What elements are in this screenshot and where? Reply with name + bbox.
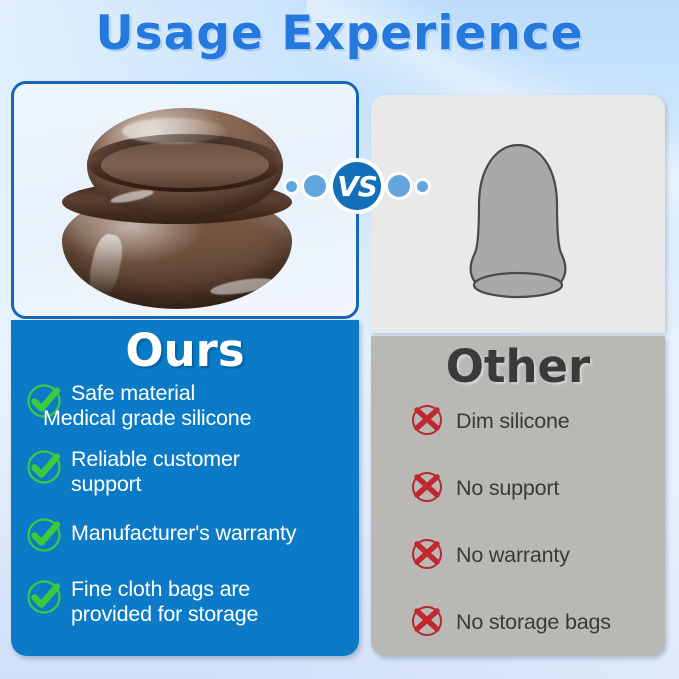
list-item-label: Dim silicone bbox=[456, 409, 570, 434]
cross-circle-icon bbox=[409, 602, 445, 643]
cross-circle-icon bbox=[409, 401, 445, 442]
list-item-line2: Medical grade silicone bbox=[43, 406, 251, 431]
list-item: Manufacturer's warranty bbox=[25, 515, 347, 559]
list-item: No support bbox=[409, 468, 655, 509]
list-item-label: No warranty bbox=[456, 543, 570, 568]
list-item-text: Fine cloth bags are provided for storage bbox=[71, 577, 258, 627]
ours-heading: Ours bbox=[11, 320, 359, 377]
cup-highlight-top bbox=[122, 118, 226, 144]
list-item: No warranty bbox=[409, 535, 655, 576]
other-heading: Other bbox=[371, 336, 665, 393]
list-item-label: No support bbox=[456, 476, 559, 501]
list-item-line2: support bbox=[71, 472, 240, 497]
vs-badge-group: VS bbox=[286, 160, 446, 212]
cross-circle-icon bbox=[409, 468, 445, 509]
vs-dot-small-right bbox=[417, 181, 428, 192]
cup-inner-bowl bbox=[101, 142, 269, 188]
other-cup-silhouette bbox=[453, 133, 583, 313]
list-item-line1: Reliable customer bbox=[71, 447, 240, 471]
vs-dot-medium-left bbox=[304, 175, 326, 197]
list-item-text: Safe material Medical grade silicone bbox=[71, 381, 251, 431]
cross-circle-icon bbox=[409, 535, 445, 576]
list-item-line1: Fine cloth bags are bbox=[71, 577, 250, 601]
ours-panel: Ours Safe material Medical grade silicon… bbox=[11, 320, 359, 656]
list-item: Reliable customer support bbox=[25, 447, 347, 497]
list-item: Fine cloth bags are provided for storage bbox=[25, 577, 347, 627]
other-panel: Other Dim silicone No support bbox=[371, 336, 665, 656]
list-item-text: Reliable customer support bbox=[71, 447, 240, 497]
other-product-photo bbox=[371, 95, 665, 333]
list-item-line2: provided for storage bbox=[71, 602, 258, 627]
check-circle-icon bbox=[25, 578, 63, 621]
ours-feature-list: Safe material Medical grade silicone Rel… bbox=[11, 377, 359, 627]
list-item-text: Manufacturer's warranty bbox=[71, 521, 296, 546]
list-item-label: No storage bags bbox=[456, 610, 611, 635]
vs-dot-small-left bbox=[286, 181, 297, 192]
check-circle-icon bbox=[25, 516, 63, 559]
list-item: Dim silicone bbox=[409, 401, 655, 442]
vs-dot-medium-right bbox=[388, 175, 410, 197]
page-title: Usage Experience bbox=[0, 6, 679, 61]
list-item: Safe material Medical grade silicone bbox=[25, 381, 347, 431]
check-circle-icon bbox=[25, 448, 63, 491]
vs-badge: VS bbox=[333, 162, 381, 210]
list-item-line1: Safe material bbox=[71, 381, 195, 405]
list-item: No storage bags bbox=[409, 602, 655, 643]
other-drawback-list: Dim silicone No support No warranty bbox=[371, 393, 665, 643]
